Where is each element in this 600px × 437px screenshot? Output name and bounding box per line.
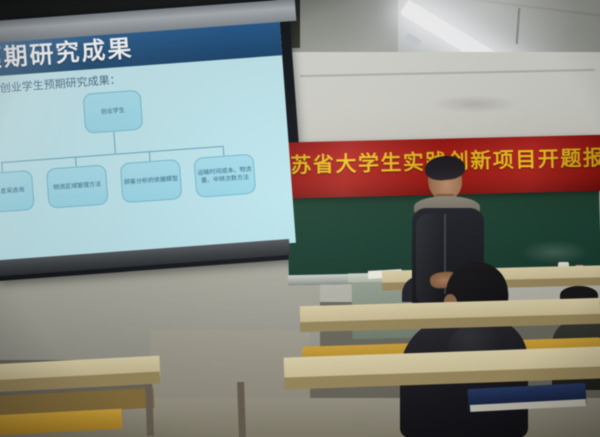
projector-screen: 预期研究成果 自主创业学生预期研究成果： 创业学生 配件信息采选询 物流区域管理… bbox=[0, 15, 296, 264]
slide-org-chart: 创业学生 配件信息采选询 物流区域管理方法 顾客分析的依据模型 运输时间成本、物… bbox=[0, 77, 296, 259]
org-chart-edge-1 bbox=[1, 162, 3, 172]
wall-smudge bbox=[430, 95, 520, 113]
classroom-photo: 江苏省大学生实践创新项目开题报告会 预期研究成果 自主创业学生预期研究成果： 创… bbox=[0, 0, 600, 437]
org-chart-child-node: 运输时间成本、物流量、中转次数方法 bbox=[193, 154, 256, 198]
org-chart-edge-3 bbox=[149, 151, 151, 161]
org-chart-child-node: 顾客分析的依据模型 bbox=[120, 159, 183, 203]
org-chart-edge-4 bbox=[223, 146, 225, 156]
org-chart-child-node: 配件信息采选询 bbox=[0, 170, 35, 214]
org-chart-edge-2 bbox=[75, 157, 77, 167]
org-chart-child-node: 物流区域管理方法 bbox=[46, 164, 109, 208]
org-chart-edge-horizontal bbox=[1, 146, 222, 163]
chalk-dust bbox=[520, 240, 590, 264]
org-chart-edge-root bbox=[113, 132, 116, 154]
org-chart-root-node: 创业学生 bbox=[82, 90, 143, 134]
